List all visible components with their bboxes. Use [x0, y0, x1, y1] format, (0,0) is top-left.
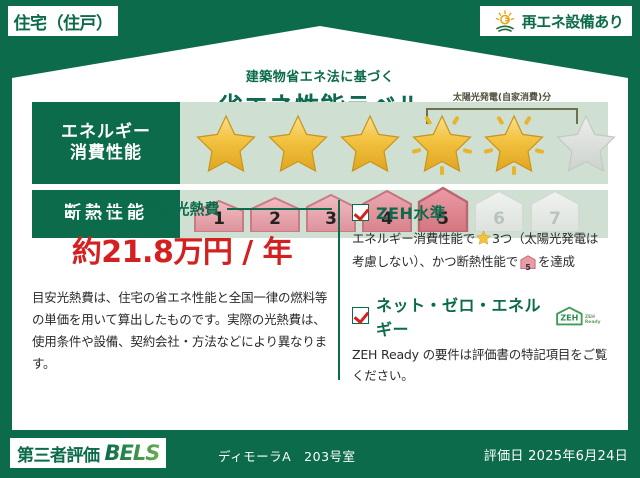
utility-cost-value: 約21.8万円 / 年: [32, 227, 332, 271]
inline-star-icon: [476, 230, 491, 251]
star-2: [262, 111, 334, 175]
zeh-body-part3: を達成: [538, 254, 575, 269]
building-type-label: 住宅（住戸）: [14, 9, 113, 34]
net-zero-title: ネット・ゼロ・エネルギー: [376, 292, 544, 340]
star-5-solar: [478, 111, 550, 175]
bels-certification-badge: 第三者評価 BELS: [10, 438, 166, 468]
renewable-equipment-badge: 再エネ設備あり: [480, 6, 632, 36]
utility-cost-heading: 目安光熱費: [32, 198, 332, 219]
inline-house-level: 5: [520, 261, 536, 275]
building-type-badge: 住宅（住戸）: [8, 6, 118, 36]
net-zero-block: ネット・ゼロ・エネルギー ZEH ZEH Ready ZEH Ready の要件…: [352, 292, 608, 387]
star-rating: [190, 111, 622, 175]
third-party-eval-label: 第三者評価: [17, 441, 100, 466]
net-zero-heading: ネット・ゼロ・エネルギー ZEH ZEH Ready: [352, 292, 608, 340]
utility-cost-panel: 目安光熱費 約21.8万円 / 年 目安光熱費は、住宅の省エネ性能と全国一律の燃…: [32, 194, 332, 386]
zeh-panel: ZEH水準 エネルギー消費性能で3つ（太陽光発電は考慮しない）、かつ断熱性能で5…: [352, 194, 608, 386]
energy-performance-label: エネルギー 消費性能: [32, 102, 180, 184]
net-zero-body: ZEH Ready の要件は評価書の特記項目をご覧ください。: [352, 344, 608, 387]
unit-name: ディモーラA 203号室: [218, 446, 356, 465]
cost-rule-left: [32, 208, 138, 210]
vertical-divider: [338, 200, 340, 380]
star-1: [190, 111, 262, 175]
zeh-ready-logo: ZEH ZEH Ready: [555, 304, 608, 328]
lower-panels: 目安光熱費 約21.8万円 / 年 目安光熱費は、住宅の省エネ性能と全国一律の燃…: [32, 194, 608, 386]
zeh-standard-checkbox-icon: [352, 204, 369, 221]
energy-performance-row: エネルギー 消費性能 太陽光発電(自家消費)分: [32, 102, 608, 184]
zeh-ready-sub: ZEH Ready: [585, 316, 608, 326]
zeh-body-part1: エネルギー消費性能で: [352, 231, 475, 246]
net-zero-checkbox-icon: [352, 307, 369, 324]
title-subtitle: 建築物省エネ法に基づく: [12, 66, 628, 85]
zeh-house-logo-icon: ZEH: [555, 304, 584, 328]
label-card: 建築物省エネ法に基づく 省エネ性能ラベル エネルギー 消費性能 太陽光発電(自家…: [12, 26, 628, 430]
star-4-solar: [406, 111, 478, 175]
sun-renewable-icon: [493, 10, 517, 32]
energy-label-line1: エネルギー: [61, 122, 151, 143]
zeh-standard-title: ZEH水準: [376, 200, 446, 224]
star-6-empty: [550, 111, 622, 175]
cost-rule-right: [227, 208, 333, 210]
svg-text:ZEH: ZEH: [560, 313, 578, 322]
inline-house-icon: 5: [520, 254, 536, 275]
energy-label-line2: 消費性能: [70, 143, 142, 164]
cost-heading-text: 目安光熱費: [145, 198, 220, 219]
utility-cost-note: 目安光熱費は、住宅の省エネ性能と全国一律の燃料等の単価を用いて算出したものです。…: [32, 287, 332, 375]
footer-bar: 第三者評価 BELS ディモーラA 203号室 評価日 2025年6月24日: [0, 430, 640, 478]
evaluation-date: 評価日 2025年6月24日: [484, 445, 628, 464]
zeh-standard-heading: ZEH水準: [352, 200, 608, 224]
energy-stars-area: 太陽光発電(自家消費)分: [180, 102, 608, 184]
star-3: [334, 111, 406, 175]
zeh-standard-body: エネルギー消費性能で3つ（太陽光発電は考慮しない）、かつ断熱性能で5を達成: [352, 228, 608, 276]
zeh-standard-block: ZEH水準 エネルギー消費性能で3つ（太陽光発電は考慮しない）、かつ断熱性能で5…: [352, 200, 608, 276]
renewable-label: 再エネ設備あり: [522, 11, 624, 32]
bels-logo-text: BELS: [105, 441, 160, 465]
solar-bracket-label: 太陽光発電(自家消費)分: [416, 90, 588, 103]
